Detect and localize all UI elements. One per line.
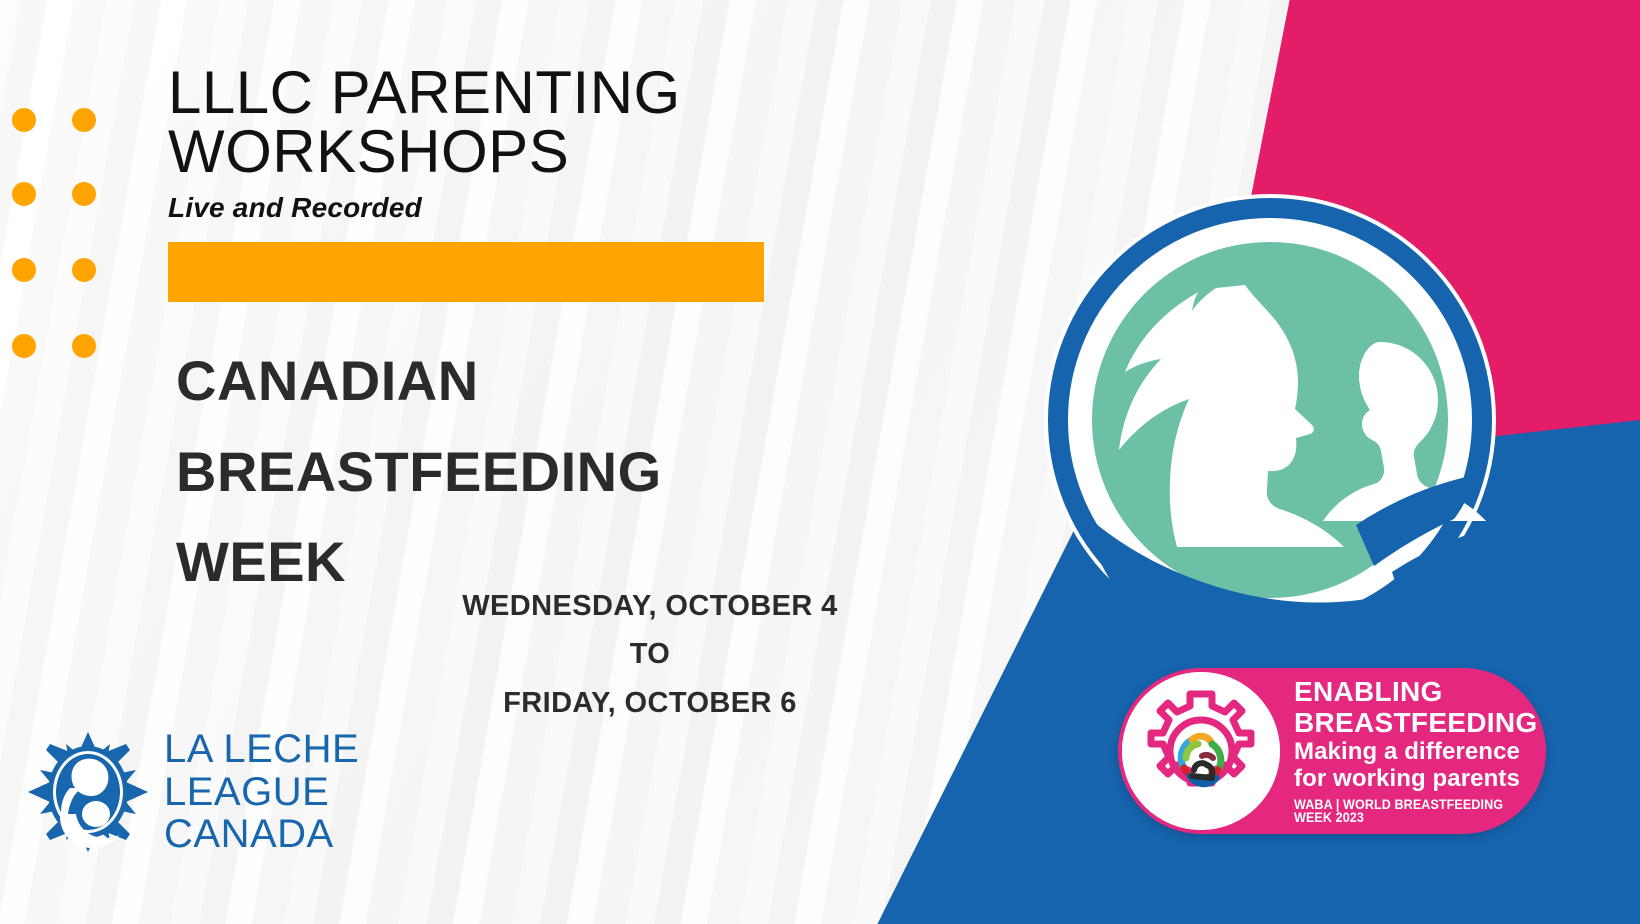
- main-title-block: CANADIAN BREASTFEEDING WEEK: [176, 336, 876, 608]
- event-start-date: WEDNESDAY, OCTOBER 4: [380, 582, 920, 630]
- badge-credit-line: WABA | WORLD BREASTFEEDING WEEK 2023: [1294, 798, 1528, 825]
- orange-dot-icon: [72, 108, 96, 132]
- headline-line-1: LLLC PARENTING: [168, 64, 888, 123]
- badge-title-line-1: ENABLING: [1294, 677, 1546, 708]
- lllc-wordmark-line-1: LA LECHE LEAGUE: [164, 727, 359, 814]
- mother-and-child-maple-leaf-icon: [26, 730, 150, 854]
- orange-dot-icon: [12, 334, 36, 358]
- world-breastfeeding-week-badge-text: ENABLING BREASTFEEDING Making a differen…: [1294, 677, 1546, 824]
- orange-dot-icon: [12, 182, 36, 206]
- badge-title-line-2: BREASTFEEDING: [1294, 708, 1546, 739]
- world-breastfeeding-week-badge: ENABLING BREASTFEEDING Making a differen…: [1118, 668, 1546, 834]
- orange-dot-icon: [12, 108, 36, 132]
- poster-canvas: LLLC PARENTING WORKSHOPS Live and Record…: [0, 0, 1640, 924]
- event-end-date: FRIDAY, OCTOBER 6: [380, 679, 920, 727]
- lllc-wordmark-line-2: CANADA: [164, 813, 506, 856]
- orange-dot-icon: [72, 258, 96, 282]
- orange-accent-bar: [168, 242, 764, 302]
- orange-dot-icon: [72, 182, 96, 206]
- headline-subtitle: Live and Recorded: [168, 192, 888, 224]
- badge-tagline-line-2: for working parents: [1294, 766, 1546, 793]
- badge-tagline-line-1: Making a difference: [1294, 739, 1546, 766]
- headline-line-2: WORKSHOPS: [168, 123, 888, 182]
- la-leche-league-canada-logo: LA LECHE LEAGUE CANADA: [26, 728, 506, 856]
- main-title-line-1: CANADIAN: [176, 336, 876, 427]
- main-title-line-2: BREASTFEEDING: [176, 427, 876, 518]
- event-date-block: WEDNESDAY, OCTOBER 4 TO FRIDAY, OCTOBER …: [380, 582, 920, 727]
- orange-dot-icon: [72, 334, 96, 358]
- event-date-connector: TO: [380, 630, 920, 678]
- orange-dot-icon: [12, 258, 36, 282]
- headline-block: LLLC PARENTING WORKSHOPS Live and Record…: [168, 64, 888, 224]
- gear-with-parent-and-child-icon: [1122, 672, 1280, 830]
- orange-dot-grid: [6, 108, 116, 368]
- la-leche-league-canada-wordmark: LA LECHE LEAGUE CANADA: [164, 728, 506, 856]
- canadian-breastfeeding-week-emblem-icon: [1040, 190, 1500, 650]
